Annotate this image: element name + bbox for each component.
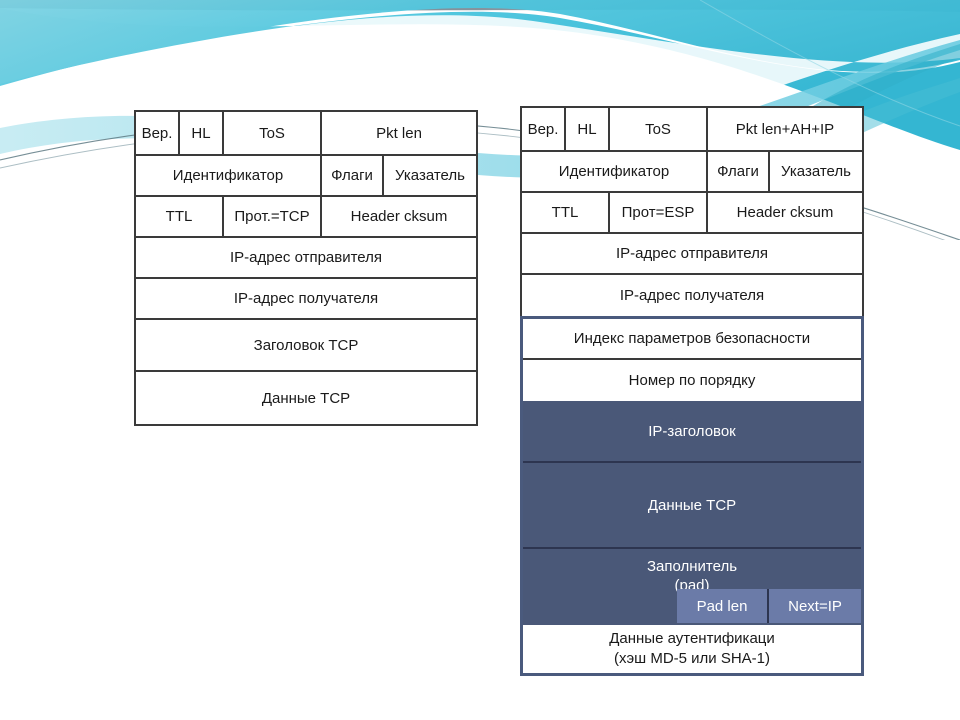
esp-padding-row: Заполнитель (pad) Pad len Next=IP <box>523 549 861 625</box>
esp-next-header-box: Next=IP <box>769 589 861 623</box>
cell-header-cksum: Header cksum <box>322 197 476 238</box>
esp-auth-data-row: Данные аутентификаци (хэш MD-5 или SHA-1… <box>523 625 861 673</box>
table-row: IP-адрес отправителя <box>522 234 862 275</box>
slide-canvas: Вер. HL ToS Pkt len Идентификатор Флаги … <box>0 0 960 720</box>
table-row: IP-адрес получателя <box>136 279 476 320</box>
table-row: Вер. HL ToS Pkt len+AH+IP <box>522 108 862 152</box>
cell-ttl: TTL <box>522 193 610 234</box>
cell-hl: HL <box>180 112 224 156</box>
cell-hl: HL <box>566 108 610 152</box>
table-row: IP-адрес получателя <box>522 275 862 316</box>
cell-ttl: TTL <box>136 197 224 238</box>
table-row: Идентификатор Флаги Указатель <box>136 156 476 197</box>
cell-flags: Флаги <box>322 156 384 197</box>
esp-trailer-boxes: Pad len Next=IP <box>677 589 861 623</box>
cell-tcp-data: Данные TCP <box>136 372 476 424</box>
cell-version: Вер. <box>522 108 566 152</box>
esp-sequence-row: Номер по порядку <box>523 360 861 401</box>
cell-protocol-esp: Прот=ESP <box>610 193 708 234</box>
cell-destination-address: IP-адрес получателя <box>136 279 476 320</box>
esp-padding-label-line1: Заполнитель <box>523 557 861 576</box>
table-row: TTL Прот=ESP Header cksum <box>522 193 862 234</box>
table-row: TTL Прот.=TCP Header cksum <box>136 197 476 238</box>
table-row: Идентификатор Флаги Указатель <box>522 152 862 193</box>
table-row: Вер. HL ToS Pkt len <box>136 112 476 156</box>
esp-auth-data-line1: Данные аутентификаци <box>609 629 775 649</box>
cell-flags: Флаги <box>708 152 770 193</box>
cell-tos: ToS <box>610 108 708 152</box>
right-packet-diagram: Вер. HL ToS Pkt len+AH+IP Идентификатор … <box>520 106 864 676</box>
cell-destination-address: IP-адрес получателя <box>522 275 862 316</box>
inner-tcp-data-row: Данные TCP <box>523 463 861 549</box>
inner-ip-header-row: IP-заголовок <box>523 401 861 463</box>
cell-header-cksum: Header cksum <box>708 193 862 234</box>
cell-identifier: Идентификатор <box>522 152 708 193</box>
cell-tos: ToS <box>224 112 322 156</box>
cell-version: Вер. <box>136 112 180 156</box>
esp-spi-row: Индекс параметров безопасности <box>523 319 861 360</box>
cell-pkt-len-ah-ip: Pkt len+AH+IP <box>708 108 862 152</box>
table-row: Данные TCP <box>136 372 476 424</box>
table-row: IP-адрес отправителя <box>136 238 476 279</box>
cell-source-address: IP-адрес отправителя <box>522 234 862 275</box>
left-packet-diagram: Вер. HL ToS Pkt len Идентификатор Флаги … <box>134 110 478 426</box>
table-row: Заголовок TCP <box>136 320 476 372</box>
cell-protocol: Прот.=TCP <box>224 197 322 238</box>
cell-pkt-len: Pkt len <box>322 112 476 156</box>
cell-tcp-header: Заголовок TCP <box>136 320 476 372</box>
esp-auth-data-line2: (хэш MD-5 или SHA-1) <box>614 649 770 669</box>
cell-source-address: IP-адрес отправителя <box>136 238 476 279</box>
esp-protected-frame: Индекс параметров безопасности Номер по … <box>520 316 864 676</box>
cell-offset: Указатель <box>384 156 476 197</box>
cell-identifier: Идентификатор <box>136 156 322 197</box>
cell-offset: Указатель <box>770 152 862 193</box>
esp-pad-len-box: Pad len <box>677 589 769 623</box>
outer-ip-header-block: Вер. HL ToS Pkt len+AH+IP Идентификатор … <box>520 106 864 316</box>
